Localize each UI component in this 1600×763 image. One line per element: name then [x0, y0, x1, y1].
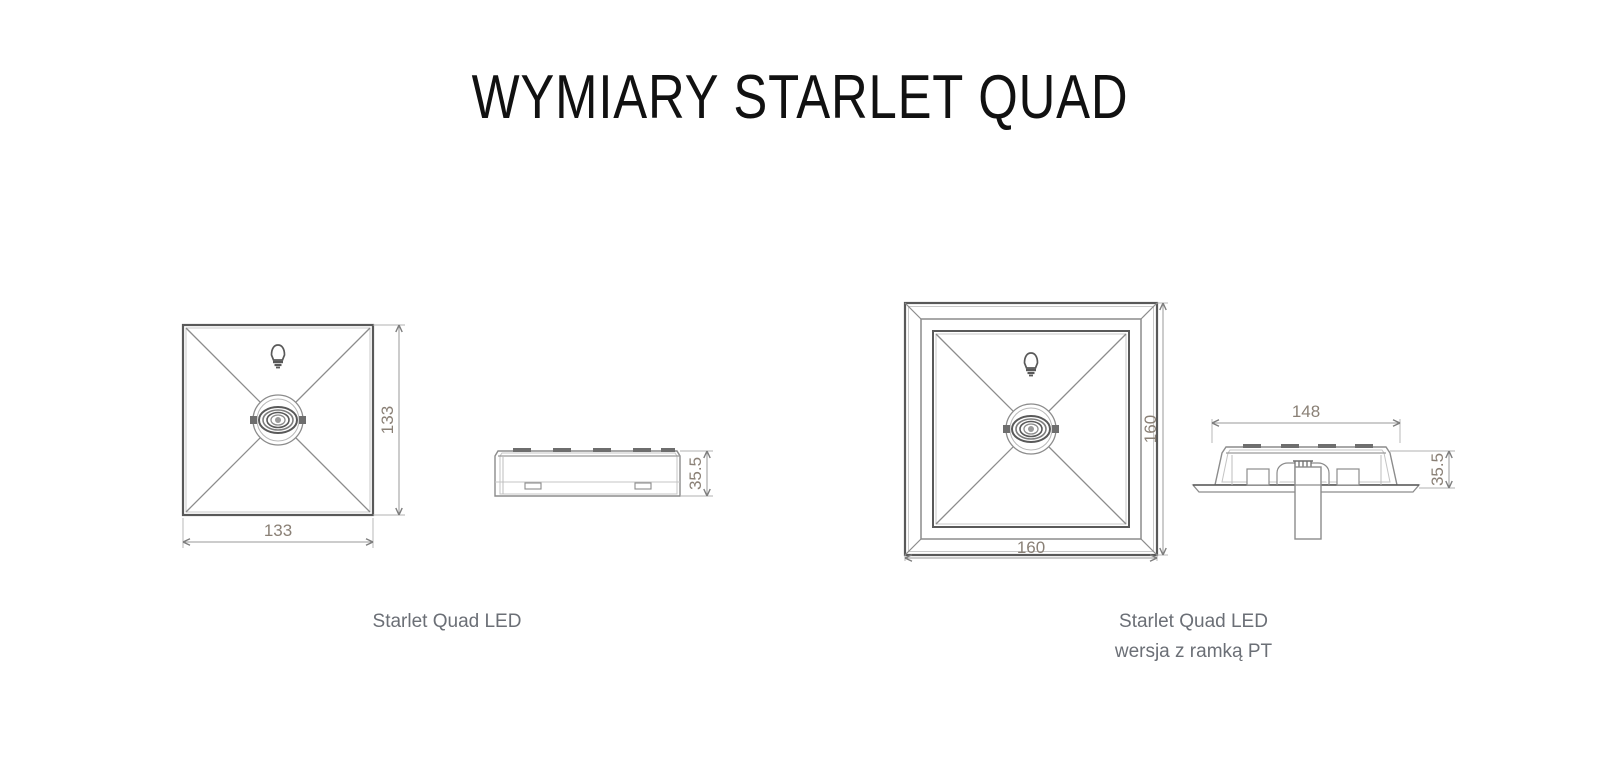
figure-starlet-quad-led-top-view: 133 133	[150, 290, 430, 560]
caption-starlet-quad-led: Starlet Quad LED	[265, 607, 629, 637]
dimension-label-height-left: 133	[378, 406, 397, 434]
side-profile-outline	[495, 451, 680, 496]
dimension-label-width-right: 160	[1017, 538, 1045, 557]
dimension-label-height-left-side: 35.5	[686, 457, 705, 490]
dimension-label-width-right-side: 148	[1292, 402, 1320, 421]
dimension-width-148: 148	[1212, 402, 1400, 443]
caption-line-1: Starlet Quad LED	[265, 607, 629, 637]
dimension-label-height-right-side: 35.5	[1428, 453, 1447, 486]
figure-starlet-quad-led-pt-side-view: 148	[1185, 385, 1485, 555]
caption-line-1: Starlet Quad LED	[1006, 607, 1381, 637]
dimension-height-35-5-right: 35.5	[1390, 451, 1455, 488]
slide-page: WYMIARY STARLET QUAD	[0, 0, 1600, 763]
figure-starlet-quad-led-side-view: 35.5	[465, 420, 735, 530]
caption-starlet-quad-led-pt: Starlet Quad LED wersja z ramką PT	[1006, 607, 1381, 667]
caption-line-2: wersja z ramką PT	[1006, 637, 1381, 667]
dimension-width-133: 133	[183, 518, 373, 548]
dimension-height-35-5-left: 35.5	[680, 451, 713, 496]
page-title: WYMIARY STARLET QUAD	[144, 62, 1456, 133]
dimension-height-133: 133	[373, 325, 405, 515]
mounting-bracket	[1295, 467, 1321, 539]
figure-starlet-quad-led-pt-top-view: 160 160	[875, 285, 1175, 570]
dimension-label-width-left: 133	[264, 521, 292, 540]
dimension-label-height-right: 160	[1141, 415, 1160, 443]
